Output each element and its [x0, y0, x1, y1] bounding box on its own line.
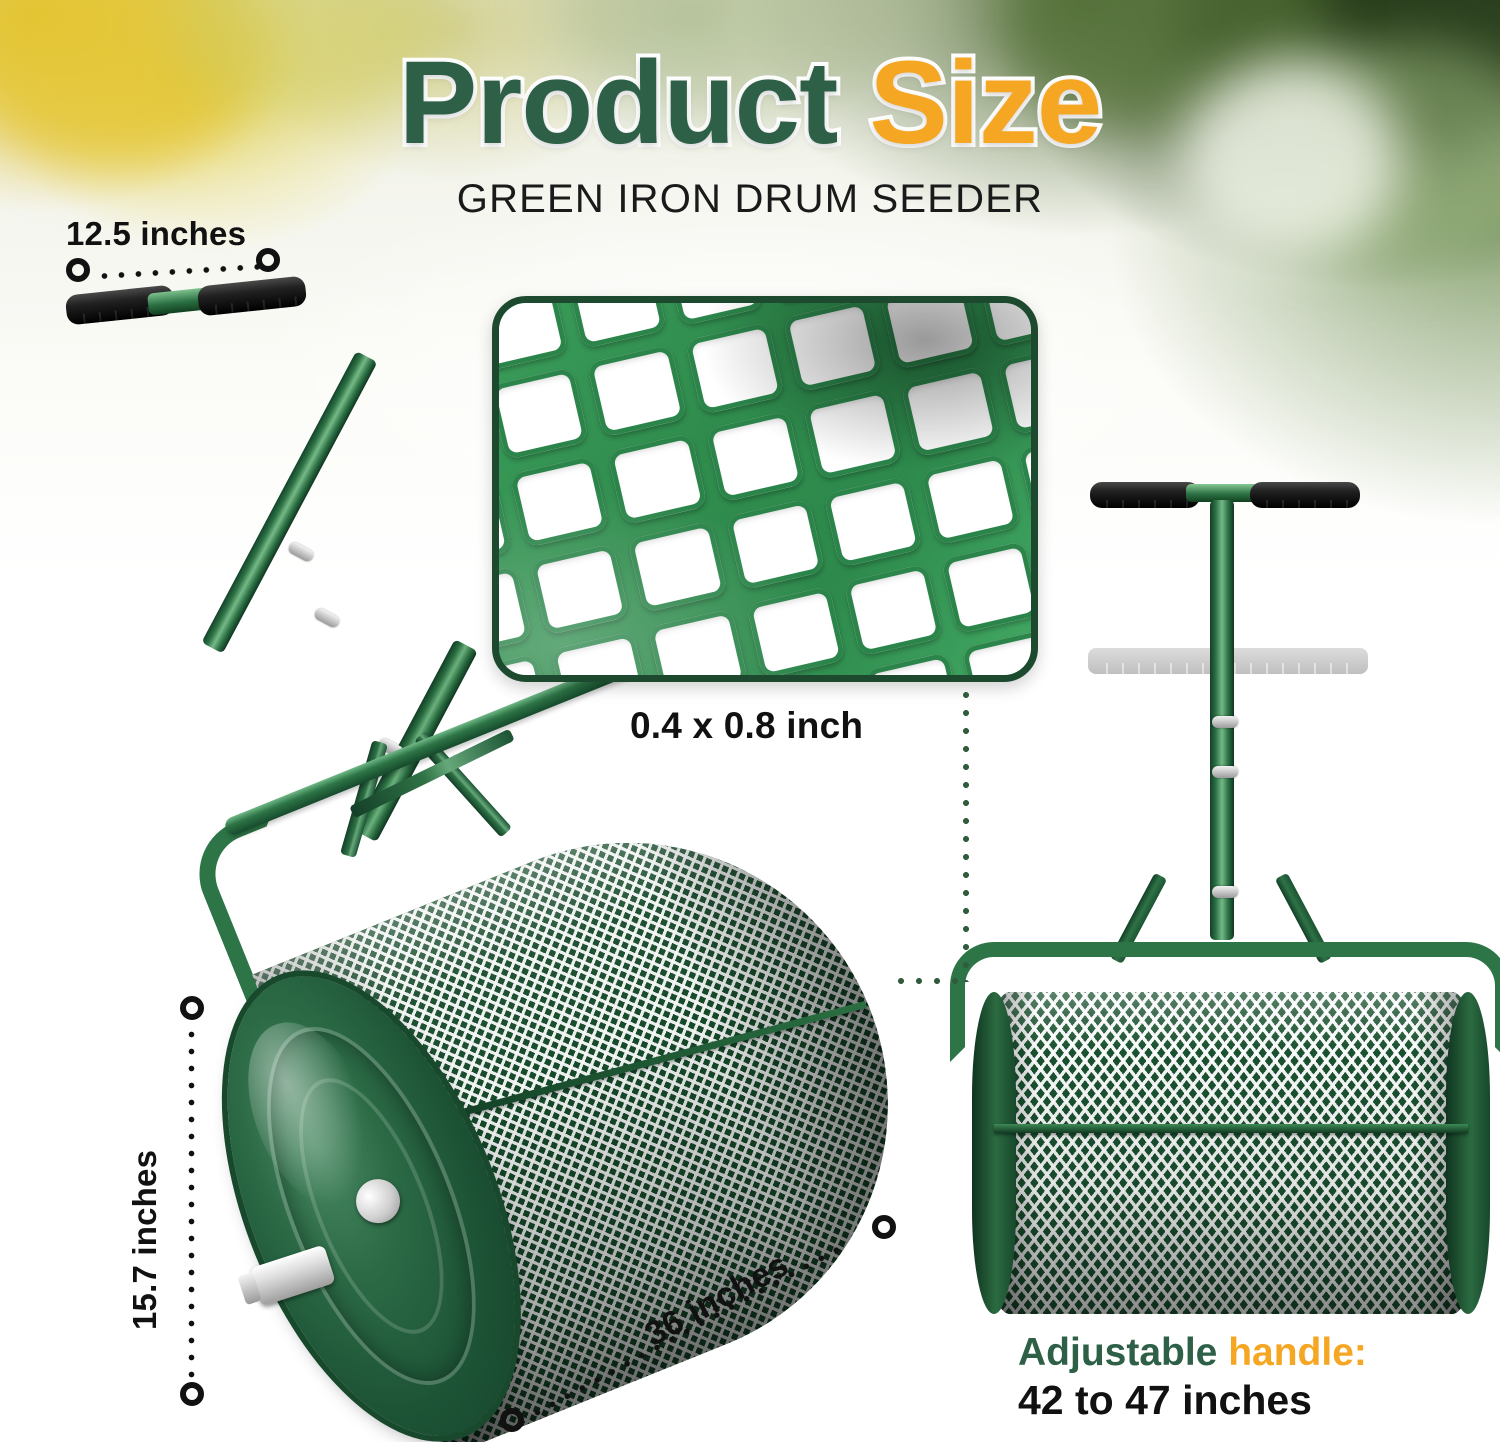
- mesh-cell: [705, 410, 805, 503]
- front-drum-cap-left: [972, 992, 1016, 1314]
- mesh-cell: [977, 296, 1038, 347]
- mesh-cell: [492, 477, 512, 570]
- mesh-cell: [823, 475, 923, 568]
- adjustable-handle-range: 42 to 47 inches: [1018, 1376, 1367, 1424]
- drum-height-dotted-line: [187, 1026, 196, 1382]
- front-drum-door-seam: [994, 1124, 1468, 1133]
- mesh-cell: [567, 296, 667, 349]
- mesh-cell: [492, 565, 532, 658]
- handle-adjust-pin-2: [313, 607, 342, 630]
- title-word-size: Size: [869, 37, 1101, 169]
- mesh-cell: [941, 541, 1038, 634]
- mesh-cell: [725, 498, 825, 591]
- mesh-cell: [587, 344, 687, 437]
- mesh-cell: [920, 453, 1020, 546]
- front-handle-grip-left: [1090, 482, 1200, 508]
- mesh-closeup-inset: [492, 296, 1038, 682]
- front-adjust-pin-2: [1212, 766, 1238, 778]
- drum-height-label: 15.7 inches: [126, 1150, 164, 1330]
- mesh-cell: [843, 563, 943, 656]
- mesh-cell: [900, 365, 1000, 458]
- callout-word-handle: handle:: [1228, 1331, 1367, 1374]
- mesh-cell: [530, 543, 630, 636]
- mesh-cell: [746, 586, 846, 679]
- front-drum-body: [976, 992, 1486, 1314]
- mesh-cell: [664, 296, 764, 326]
- mesh-cell: [492, 296, 569, 371]
- mesh-cell: [550, 631, 650, 682]
- callout-word-adjustable: Adjustable: [1018, 1331, 1217, 1374]
- mesh-cell: [607, 432, 707, 525]
- front-seeder-drum: [976, 992, 1486, 1314]
- adjustable-handle-heading: Adjustable handle:: [1018, 1330, 1367, 1376]
- mesh-cell: [766, 674, 866, 682]
- drum-height-endpoint-top: [180, 996, 204, 1020]
- adjustable-handle-callout: Adjustable handle: 42 to 47 inches: [1018, 1330, 1367, 1424]
- front-drum-shading: [976, 992, 1486, 1314]
- mesh-cell: [648, 608, 748, 682]
- header: Product Size GREEN IRON DRUM SEEDER: [0, 0, 1500, 222]
- drum-length-endpoint-right: [872, 1215, 896, 1239]
- leader-line-vertical: [961, 686, 971, 982]
- handle-grip-right: [197, 275, 308, 316]
- mesh-cell: [998, 342, 1038, 435]
- front-adjust-pin-1: [1212, 716, 1238, 728]
- page-title: Product Size: [0, 42, 1500, 165]
- mesh-cell: [782, 299, 882, 392]
- drum-length-endpoint-left: [500, 1408, 524, 1432]
- mesh-grid: [492, 296, 1038, 682]
- front-drum-cap-right: [1446, 992, 1490, 1314]
- mesh-cell: [880, 296, 980, 369]
- handle-shaft-upper: [201, 351, 377, 654]
- front-handle-grip-right: [1250, 482, 1360, 508]
- mesh-cell: [510, 455, 610, 548]
- title-word-product: Product: [399, 37, 838, 169]
- handle-width-endpoint-left: [66, 258, 90, 282]
- leader-line-horizontal: [892, 976, 970, 986]
- drum-height-endpoint-bottom: [180, 1382, 204, 1406]
- mesh-cell: [863, 651, 963, 682]
- mesh-cell: [1018, 430, 1038, 523]
- mesh-cell: [762, 296, 862, 304]
- page-subtitle: GREEN IRON DRUM SEEDER: [0, 177, 1500, 222]
- handle-adjust-pin-1: [287, 541, 316, 564]
- mesh-cell: [685, 322, 785, 415]
- mesh-cell: [961, 629, 1038, 682]
- mesh-cell: [628, 520, 728, 613]
- mesh-cell: [802, 387, 902, 480]
- mesh-hole-dimension-label: 0.4 x 0.8 inch: [630, 705, 863, 747]
- mesh-cell: [492, 367, 589, 460]
